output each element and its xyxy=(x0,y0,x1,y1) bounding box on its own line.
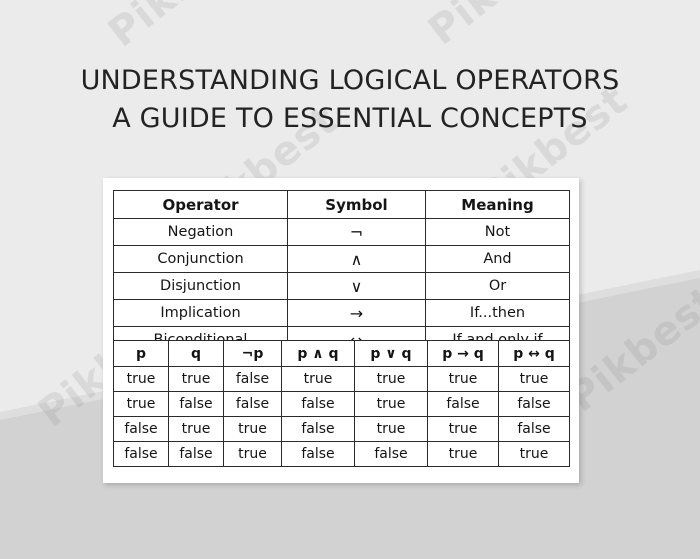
truth-cell: true xyxy=(355,392,428,417)
truth-table-row: truefalsefalsefalsetruefalsefalse xyxy=(114,392,570,417)
truth-header-cell-6: p ↔ q xyxy=(499,341,570,367)
operator-cell-meaning: If...then xyxy=(426,300,570,327)
operator-cell-operator: Negation xyxy=(114,219,288,246)
truth-header-cell-1: q xyxy=(169,341,224,367)
truth-cell: false xyxy=(114,417,169,442)
truth-cell: false xyxy=(499,417,570,442)
truth-cell: true xyxy=(169,417,224,442)
watermark-text: Pikbest xyxy=(100,0,266,56)
truth-table-body: pq¬pp ∧ qp ∨ qp → qp ↔ qtruetruefalsetru… xyxy=(114,341,570,467)
truth-cell: true xyxy=(282,367,355,392)
truth-cell: true xyxy=(114,392,169,417)
operator-header-row: OperatorSymbolMeaning xyxy=(114,191,570,219)
logic-table: OperatorSymbolMeaningNegation¬NotConjunc… xyxy=(113,190,570,354)
operator-row: Implication→If...then xyxy=(114,300,570,327)
truth-header-cell-0: p xyxy=(114,341,169,367)
truth-cell: true xyxy=(224,417,282,442)
truth-cell: true xyxy=(355,367,428,392)
operator-cell-operator: Conjunction xyxy=(114,246,288,273)
truth-header-cell-3: p ∧ q xyxy=(282,341,355,367)
operator-header-cell-0: Operator xyxy=(114,191,288,219)
page-title: UNDERSTANDING LOGICAL OPERATORS A GUIDE … xyxy=(0,62,700,138)
operator-row: Conjunction∧And xyxy=(114,246,570,273)
truth-cell: true xyxy=(355,417,428,442)
operator-cell-meaning: Not xyxy=(426,219,570,246)
truth-cell: false xyxy=(169,392,224,417)
truth-table-row: falsefalsetruefalsefalsetruetrue xyxy=(114,442,570,467)
title-line-2: A GUIDE TO ESSENTIAL CONCEPTS xyxy=(0,100,700,138)
truth-cell: false xyxy=(428,392,499,417)
operator-cell-operator: Implication xyxy=(114,300,288,327)
operator-cell-meaning: Or xyxy=(426,273,570,300)
truth-cell: false xyxy=(282,392,355,417)
truth-cell: true xyxy=(114,367,169,392)
truth-header-row: pq¬pp ∧ qp ∨ qp → qp ↔ q xyxy=(114,341,570,367)
truth-table: pq¬pp ∧ qp ∨ qp → qp ↔ qtruetruefalsetru… xyxy=(113,340,570,467)
truth-header-cell-5: p → q xyxy=(428,341,499,367)
operator-cell-meaning: And xyxy=(426,246,570,273)
truth-cell: false xyxy=(224,367,282,392)
operator-cell-symbol: ¬ xyxy=(288,219,426,246)
truth-cell: false xyxy=(169,442,224,467)
truth-cell: true xyxy=(428,417,499,442)
truth-cell: false xyxy=(355,442,428,467)
title-line-1: UNDERSTANDING LOGICAL OPERATORS xyxy=(0,62,700,100)
truth-header-cell-4: p ∨ q xyxy=(355,341,428,367)
operator-header-cell-1: Symbol xyxy=(288,191,426,219)
truth-table-row: falsetruetruefalsetruetruefalse xyxy=(114,417,570,442)
truth-cell: true xyxy=(224,442,282,467)
truth-cell: true xyxy=(169,367,224,392)
operator-header-cell-2: Meaning xyxy=(426,191,570,219)
truth-cell: false xyxy=(499,392,570,417)
truth-cell: false xyxy=(282,442,355,467)
truth-cell: true xyxy=(499,367,570,392)
operator-cell-operator: Disjunction xyxy=(114,273,288,300)
watermark-text: Pikbest xyxy=(420,0,586,54)
operator-cell-symbol: → xyxy=(288,300,426,327)
truth-cell: false xyxy=(114,442,169,467)
table-card: OperatorSymbolMeaningNegation¬NotConjunc… xyxy=(103,178,579,483)
operator-row: Disjunction∨Or xyxy=(114,273,570,300)
watermark-text: Pikbest xyxy=(560,277,700,421)
truth-header-cell-2: ¬p xyxy=(224,341,282,367)
operator-table-body: OperatorSymbolMeaningNegation¬NotConjunc… xyxy=(114,191,570,354)
truth-cell: false xyxy=(282,417,355,442)
operator-cell-symbol: ∨ xyxy=(288,273,426,300)
truth-table-row: truetruefalsetruetruetruetrue xyxy=(114,367,570,392)
operator-cell-symbol: ∧ xyxy=(288,246,426,273)
poster-canvas: PikbestPikbestPikbestPikbestPikbestPikbe… xyxy=(0,0,700,559)
truth-cell: false xyxy=(224,392,282,417)
truth-cell: true xyxy=(428,367,499,392)
truth-cell: true xyxy=(428,442,499,467)
operator-row: Negation¬Not xyxy=(114,219,570,246)
truth-cell: true xyxy=(499,442,570,467)
